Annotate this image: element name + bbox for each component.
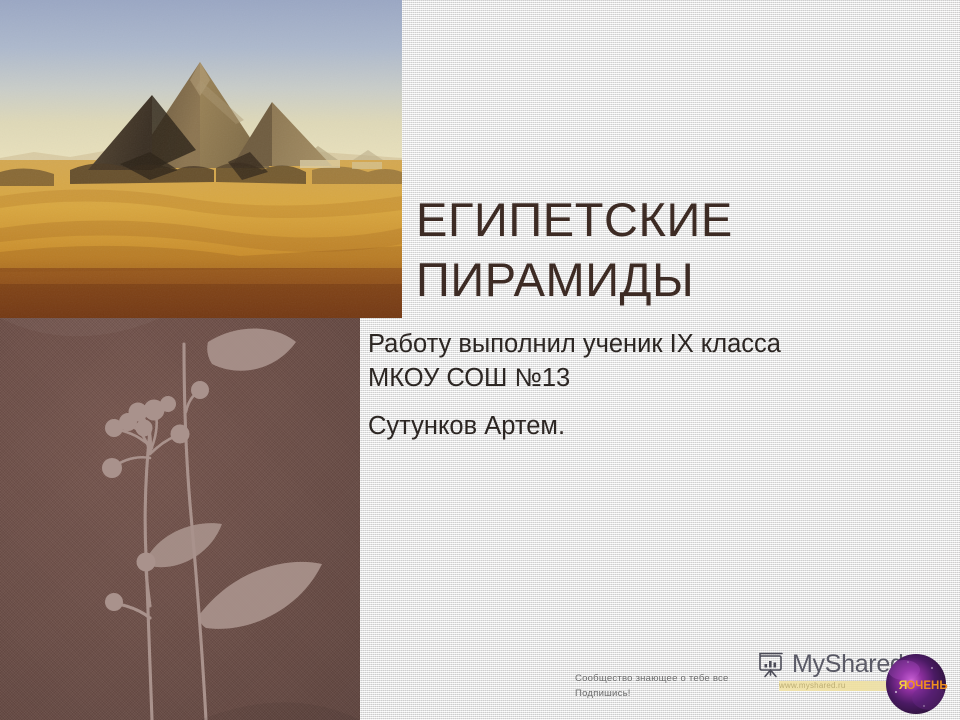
subtitle-line-author-class: Работу выполнил ученик IX класса МКОУ СО… [368,328,928,396]
plant-ornament-graphic [0,318,360,720]
pyramids-photo-artwork [0,0,402,318]
pyramids-photo [0,0,402,318]
circle-cosmic-badge-icon: Я ОЧЕНЬ [880,648,952,720]
subtitle-block: Работу выполнил ученик IX класса МКОУ СО… [368,328,928,444]
subtitle-line-author-name: Сутунков Артем. [368,410,928,444]
watermark-cluster: Сообщество знающее о тебе все Подпишись!… [575,648,960,720]
subscribe-badge[interactable]: Я ОЧЕНЬ [880,648,952,720]
title-block: ЕГИПЕТСКИЕ ПИРАМИДЫ [416,190,936,309]
decorative-brown-panel [0,318,360,720]
presentation-chart-icon [757,651,787,679]
presentation-slide: ЕГИПЕТСКИЕ ПИРАМИДЫ Работу выполнил учен… [0,0,960,720]
page-title: ЕГИПЕТСКИЕ ПИРАМИДЫ [416,190,936,309]
badge-line-2: ОЧЕНЬ [906,680,947,692]
